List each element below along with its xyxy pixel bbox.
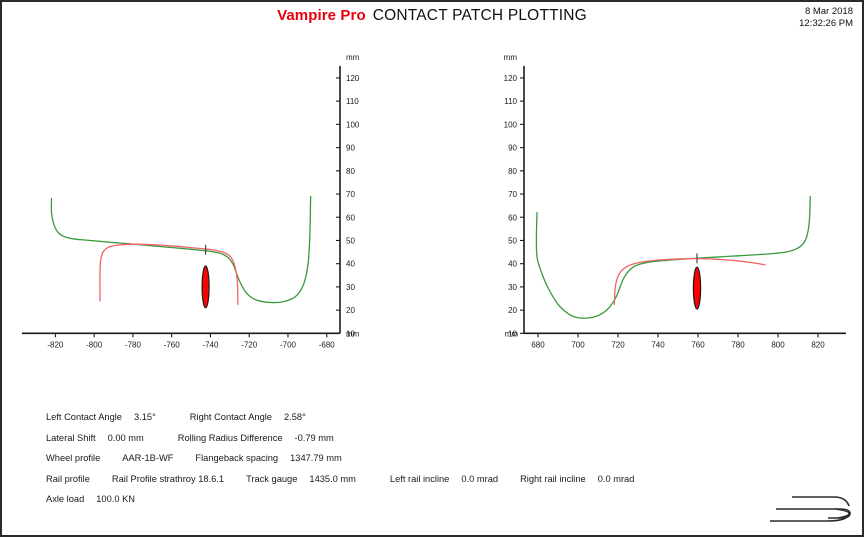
x-tick-label: -820	[47, 340, 64, 349]
right-rail-incline-value: 0.0 mrad	[598, 474, 635, 484]
rail-profile-label: Rail profile	[46, 474, 90, 484]
left-rail-incline-label: Left rail incline	[390, 474, 449, 484]
x-tick-label: -720	[241, 340, 258, 349]
y-axis-unit-label: mm	[504, 53, 518, 62]
flangeback-spacing-value: 1347.79 mm	[290, 453, 342, 463]
x-axis-unit-label: mm	[346, 329, 360, 338]
rail-profile-value: Rail Profile strathroy 18.6.1	[112, 474, 224, 484]
x-tick-label: 720	[611, 340, 625, 349]
chart-right-svg: 102030405060708090100110120mm68070072074…	[464, 50, 860, 370]
flangeback-spacing-label: Flangeback spacing	[195, 453, 278, 463]
y-tick-label: 100	[346, 120, 360, 129]
x-tick-label: 760	[691, 340, 705, 349]
y-tick-label: 20	[346, 306, 355, 315]
lateral-shift-value: 0.00 mm	[108, 433, 144, 443]
contact-patch-plotting-page: Vampire ProCONTACT PATCH PLOTTING 8 Mar …	[0, 0, 864, 537]
x-tick-label: 680	[531, 340, 545, 349]
right-contact-angle-value: 2.58°	[284, 412, 306, 422]
x-tick-label: -800	[86, 340, 103, 349]
right-wheel-rail-chart: 102030405060708090100110120mm68070072074…	[464, 50, 860, 370]
train-logo-icon	[770, 487, 856, 531]
contact-patch-ellipse	[693, 267, 700, 309]
time-label: 12:32:26 PM	[799, 18, 853, 30]
track-gauge-label: Track gauge	[246, 474, 297, 484]
x-tick-label: -780	[125, 340, 142, 349]
y-tick-label: 70	[508, 190, 517, 199]
x-axis-unit-label: mm	[505, 329, 519, 338]
y-tick-label: 30	[508, 283, 517, 292]
x-tick-label: 700	[571, 340, 585, 349]
y-tick-label: 90	[508, 144, 517, 153]
y-tick-label: 60	[346, 213, 355, 222]
wheel-profile-row: Wheel profileAAR-1B-WFFlangeback spacing…	[46, 448, 634, 469]
y-tick-label: 110	[346, 97, 359, 106]
axle-load-label: Axle load	[46, 494, 84, 504]
y-tick-label: 120	[504, 74, 518, 83]
y-tick-label: 40	[508, 260, 517, 269]
right-rail-incline-label: Right rail incline	[520, 474, 586, 484]
lateral-shift-label: Lateral Shift	[46, 433, 96, 443]
left-contact-angle-value: 3.15°	[134, 412, 156, 422]
track-gauge-value: 1435.0 mm	[309, 474, 356, 484]
y-axis-unit-label: mm	[346, 53, 360, 62]
left-contact-angle-label: Left Contact Angle	[46, 412, 122, 422]
y-tick-label: 60	[508, 213, 517, 222]
y-tick-label: 50	[346, 236, 355, 245]
contact-parameters-block: Left Contact Angle3.15°Right Contact Ang…	[46, 407, 634, 510]
axle-load-value: 100.0 KN	[96, 494, 135, 504]
axle-load-row: Axle load100.0 KN	[46, 489, 634, 510]
x-tick-label: 740	[651, 340, 665, 349]
left-wheel-rail-chart: 102030405060708090100110120mm-820-800-78…	[8, 50, 398, 370]
y-tick-label: 30	[346, 283, 355, 292]
x-tick-label: -740	[202, 340, 219, 349]
rolling-radius-difference-value: -0.79 mm	[295, 433, 334, 443]
contact-angle-row: Left Contact Angle3.15°Right Contact Ang…	[46, 407, 634, 428]
y-tick-label: 50	[508, 236, 517, 245]
wheel-profile-value: AAR-1B-WF	[122, 453, 173, 463]
y-tick-label: 90	[346, 144, 355, 153]
timestamp: 8 Mar 2018 12:32:26 PM	[799, 6, 853, 30]
wheel-profile-curve	[51, 196, 310, 302]
brand-label: Vampire Pro	[277, 7, 366, 24]
y-tick-label: 80	[508, 167, 517, 176]
date-label: 8 Mar 2018	[799, 6, 853, 18]
title-group: Vampire ProCONTACT PATCH PLOTTING	[2, 7, 862, 25]
wheel-profile-label: Wheel profile	[46, 453, 100, 463]
chart-left-svg: 102030405060708090100110120mm-820-800-78…	[8, 50, 398, 370]
y-tick-label: 70	[346, 190, 355, 199]
y-tick-label: 40	[346, 260, 355, 269]
y-tick-label: 110	[504, 97, 517, 106]
wheel-profile-curve	[536, 196, 810, 318]
x-tick-label: -700	[280, 340, 297, 349]
right-contact-angle-label: Right Contact Angle	[190, 412, 272, 422]
y-tick-label: 20	[508, 306, 517, 315]
y-tick-label: 100	[504, 120, 518, 129]
x-tick-label: -760	[164, 340, 181, 349]
x-tick-label: 780	[731, 340, 745, 349]
x-tick-label: 820	[811, 340, 825, 349]
rail-profile-row: Rail profileRail Profile strathroy 18.6.…	[46, 469, 634, 490]
left-rail-incline-value: 0.0 mrad	[461, 474, 498, 484]
rolling-radius-difference-label: Rolling Radius Difference	[178, 433, 283, 443]
page-header: Vampire ProCONTACT PATCH PLOTTING 8 Mar …	[2, 2, 862, 32]
x-tick-label: -680	[319, 340, 336, 349]
vampire-train-logo	[770, 487, 856, 531]
contact-patch-ellipse	[202, 266, 209, 308]
lateral-shift-row: Lateral Shift0.00 mmRolling Radius Diffe…	[46, 428, 634, 449]
page-title: CONTACT PATCH PLOTTING	[373, 7, 587, 24]
y-tick-label: 80	[346, 167, 355, 176]
x-tick-label: 800	[771, 340, 785, 349]
y-tick-label: 120	[346, 74, 360, 83]
